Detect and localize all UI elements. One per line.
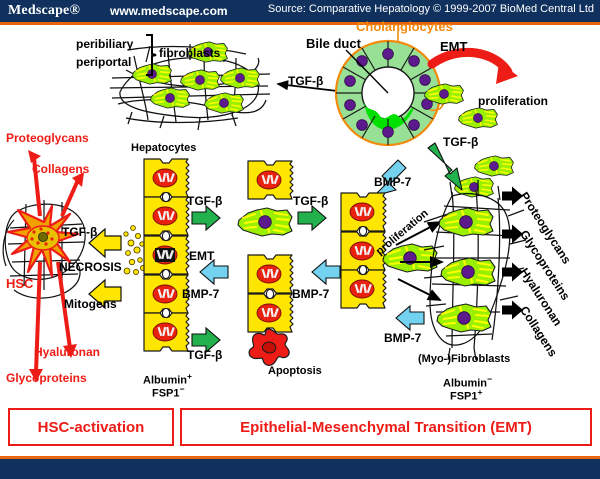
label-emt-hepatocyte: EMT (189, 250, 214, 262)
marker-fibroblast-fsp1: FSP1+ (450, 388, 483, 403)
hepatocyte-plate (144, 159, 189, 351)
label-bmp7-fibroblast: BMP-7 (384, 332, 421, 344)
arrows-ecm-products-right (502, 187, 523, 320)
label-hsc: HSC (6, 277, 33, 290)
emt-red-arrow (432, 52, 518, 84)
arrow-tgfb-col2-col3 (298, 206, 326, 230)
footer-bar (0, 459, 600, 479)
label-mitogens: Mitogens (64, 298, 117, 310)
label-fibroblasts: fibroblasts (159, 47, 220, 59)
label-cholangiocytes: Cholangiocytes (356, 20, 453, 33)
necrotic-debris (124, 226, 146, 275)
footer-source: Source: Comparative Hepatology © 1999-20… (268, 3, 594, 15)
label-tgfb-col1: TGF-β (187, 195, 222, 207)
label-peribiliary: peribiliary (76, 38, 133, 50)
arrow-tgfb-col1-col2 (192, 206, 220, 230)
label-bmp7-col1: BMP-7 (182, 288, 219, 300)
label-glycoproteins-left: Glycoproteins (6, 372, 87, 384)
transitioning-cell-middle (238, 208, 292, 236)
marker-hepatocyte-fsp1: FSP1− (152, 385, 185, 400)
banner-hsc-activation: HSC-activation (8, 408, 174, 446)
label-tgfb-duct: TGF-β (443, 136, 478, 148)
label-periportal: periportal (76, 56, 131, 68)
label-tgfb-col2: TGF-β (293, 195, 328, 207)
apoptotic-cell (249, 329, 289, 365)
banner-emt: Epithelial-Mesenchymal Transition (EMT) (180, 408, 592, 446)
label-apoptosis: Apoptosis (268, 366, 322, 377)
arrow-bmp7-fibroblast-col3 (396, 306, 424, 330)
arrow-bmp7-col2-col1 (200, 260, 228, 284)
label-proliferation-top: proliferation (478, 95, 548, 107)
label-bmp7-duct: BMP-7 (374, 176, 411, 188)
arrow-tgfb-duct-down (428, 143, 462, 190)
arrow-bmp7-col3-col2 (312, 260, 340, 284)
label-collagens-left: Collagens (32, 163, 89, 175)
label-bile-duct: Bile duct (306, 37, 361, 50)
label-bmp7-col2: BMP-7 (292, 288, 329, 300)
label-proteoglycans-left: Proteoglycans (6, 132, 89, 144)
label-tgfb-duct-fibroblasts: TGF-β (288, 75, 323, 87)
bracket-fibroblasts (144, 34, 158, 76)
label-myofibroblasts: (Myo-)Fibroblasts (418, 354, 510, 365)
label-hepatocytes: Hepatocytes (131, 143, 196, 154)
diagram-canvas: Medscape® www.medscape.com (0, 0, 600, 479)
label-necrosis: NECROSIS (59, 261, 122, 273)
label-hyaluronan-left: Hyaluronan (34, 346, 100, 358)
hepatocyte-middle-column (248, 161, 293, 332)
label-tgfb-apoptosis: TGF-β (187, 349, 222, 361)
label-emt-top: EMT (440, 40, 467, 53)
label-tgfb-necrosis: TGF-β (62, 226, 97, 238)
